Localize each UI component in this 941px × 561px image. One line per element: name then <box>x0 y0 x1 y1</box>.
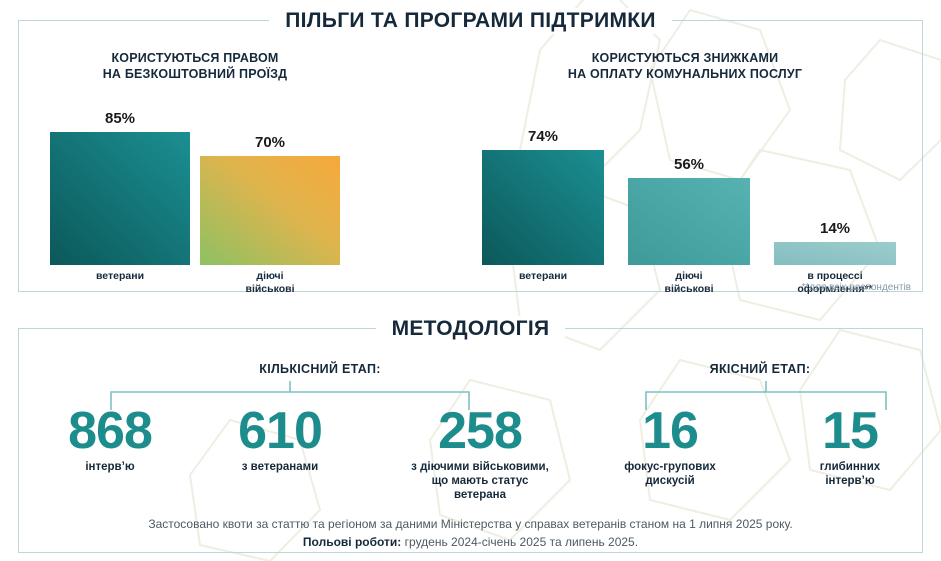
stat-in-depth-interviews-caption: глибинних інтерв’ю <box>770 460 930 488</box>
bar-label-veterans-utilities: ветерани <box>468 270 618 283</box>
bar-value-veterans-utilities: 74% <box>482 128 604 146</box>
methodology-footer: Застосовано квоти за статтю та регіоном … <box>40 515 901 551</box>
bar-value-veterans-transport: 85% <box>50 110 190 128</box>
stat-with-veterans: 610 з ветеранами <box>205 405 355 474</box>
stage-label-qualitative: ЯКІСНИЙ ЕТАП: <box>630 362 890 376</box>
methodology-footer-fieldwork-line: Польові роботи: грудень 2024-січень 2025… <box>40 533 901 551</box>
stat-active-military-veteran-status-caption: з діючими військовими, що мають статус в… <box>385 460 575 502</box>
methodology-footer-fieldwork-dates: грудень 2024-січень 2025 та липень 2025. <box>401 535 638 549</box>
stat-total-interviews-caption: інтерв’ю <box>35 460 185 474</box>
stat-active-military-veteran-status-number: 258 <box>385 405 575 457</box>
stat-with-veterans-number: 610 <box>205 405 355 457</box>
stat-focus-groups: 16 фокус-групових дискусій <box>590 405 750 488</box>
chart-group-utility-discounts-bars: 74% ветерани 56% діючі військові 14% в п… <box>465 100 905 265</box>
stat-total-interviews: 868 інтерв’ю <box>35 405 185 474</box>
stat-with-veterans-caption: з ветеранами <box>205 460 355 474</box>
stat-focus-groups-caption: фокус-групових дискусій <box>590 460 750 488</box>
bar-rect-active-military-utilities <box>628 178 750 265</box>
benefits-footnote: **для всіх респондентів <box>711 282 911 293</box>
bar-rect-veterans-transport <box>50 132 190 265</box>
chart-group-free-transport-bars: 85% ветерани 70% діючі військові <box>30 100 360 265</box>
bar-label-active-military-transport: діючі військові <box>186 270 354 296</box>
bar-rect-in-process-utilities <box>774 242 896 265</box>
chart-group-free-transport-heading: КОРИСТУЮТЬСЯ ПРАВОМ НА БЕЗКОШТОВНИЙ ПРОЇ… <box>30 50 360 82</box>
bar-item-veterans-transport[interactable]: 85% ветерани <box>50 132 190 265</box>
benefits-panel-title-wrap: ПІЛЬГИ ТА ПРОГРАМИ ПІДТРИМКИ <box>19 8 922 34</box>
bar-item-veterans-utilities[interactable]: 74% ветерани <box>482 150 604 265</box>
methodology-footer-fieldwork-label: Польові роботи: <box>303 535 401 549</box>
methodology-footer-quota-note: Застосовано квоти за статтю та регіоном … <box>40 515 901 533</box>
bar-value-active-military-transport: 70% <box>200 134 340 152</box>
bar-rect-veterans-utilities <box>482 150 604 265</box>
stat-focus-groups-number: 16 <box>590 405 750 457</box>
bar-item-active-military-transport[interactable]: 70% діючі військові <box>200 156 340 265</box>
stat-active-military-veteran-status: 258 з діючими військовими, що мають стат… <box>385 405 575 502</box>
stat-total-interviews-number: 868 <box>35 405 185 457</box>
bar-item-active-military-utilities[interactable]: 56% діючі військові <box>628 178 750 265</box>
chart-group-free-transport: КОРИСТУЮТЬСЯ ПРАВОМ НА БЕЗКОШТОВНИЙ ПРОЇ… <box>30 50 360 265</box>
stage-label-quantitative: КІЛЬКІСНИЙ ЕТАП: <box>170 362 470 376</box>
bar-value-in-process-utilities: 14% <box>774 220 896 238</box>
benefits-section-title: ПІЛЬГИ ТА ПРОГРАМИ ПІДТРИМКИ <box>269 8 672 34</box>
chart-group-utility-discounts-heading: КОРИСТУЮТЬСЯ ЗНИЖКАМИ НА ОПЛАТУ КОМУНАЛЬ… <box>465 50 905 82</box>
methodology-section-title: МЕТОДОЛОГІЯ <box>376 316 566 342</box>
bar-rect-active-military-transport <box>200 156 340 265</box>
stat-in-depth-interviews-number: 15 <box>770 405 930 457</box>
methodology-panel-title-wrap: МЕТОДОЛОГІЯ <box>19 316 922 342</box>
bar-item-in-process-utilities[interactable]: 14% в процессі оформлення** <box>774 242 896 265</box>
stat-in-depth-interviews: 15 глибинних інтерв’ю <box>770 405 930 488</box>
chart-group-utility-discounts: КОРИСТУЮТЬСЯ ЗНИЖКАМИ НА ОПЛАТУ КОМУНАЛЬ… <box>465 50 905 265</box>
bar-label-veterans-transport: ветерани <box>36 270 204 283</box>
bar-value-active-military-utilities: 56% <box>628 156 750 174</box>
